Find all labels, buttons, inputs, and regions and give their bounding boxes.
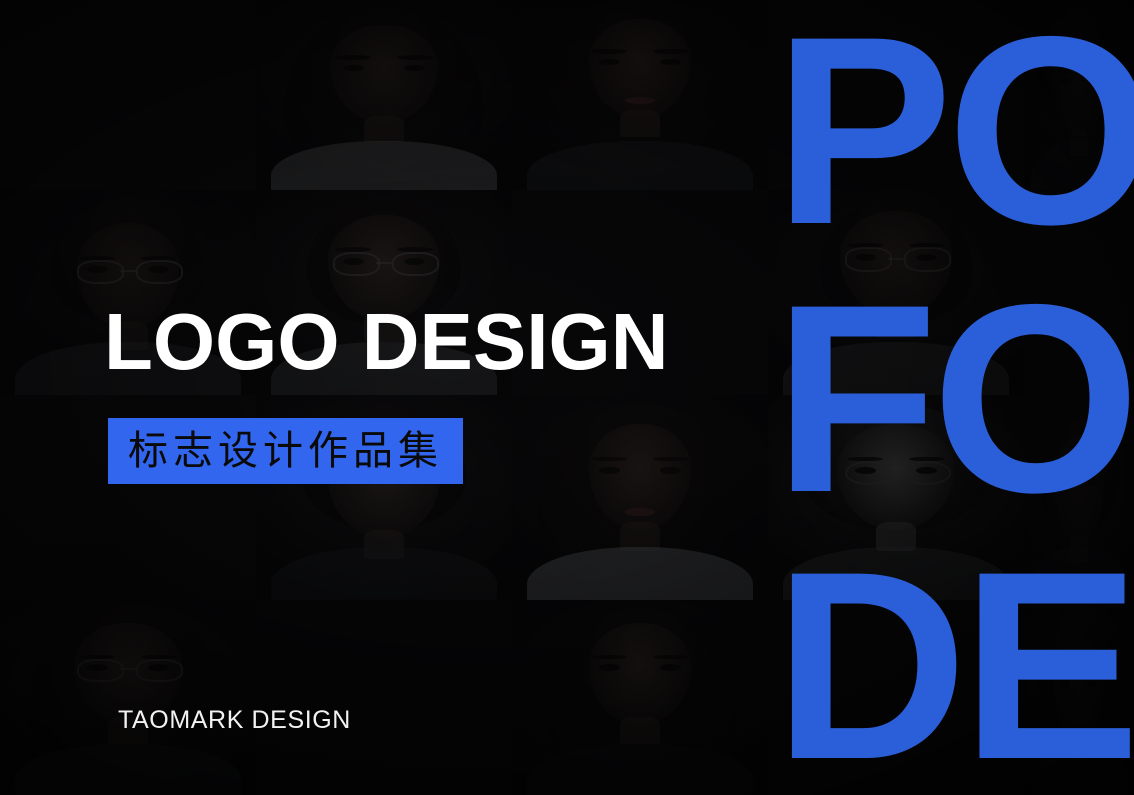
portrait-figure <box>0 600 256 795</box>
photo-cell-r1c2 <box>256 0 512 190</box>
portfolio-cover-slide: PO FO DE LOGO DESIGN 标志设计作品集 TAOMARK DES… <box>0 0 1134 795</box>
portrait-eye-right <box>1088 479 1097 486</box>
eyeglasses-icon <box>77 260 125 285</box>
photo-cell-r2c4 <box>768 190 1024 395</box>
eyeglasses-icon <box>845 247 893 272</box>
portrait-brow-right <box>1085 670 1100 675</box>
portrait-eye-right <box>1088 680 1097 687</box>
photo-cell-r4c2 <box>256 600 512 795</box>
eyeglasses-bridge <box>376 262 391 264</box>
portrait-brow-left <box>591 49 627 54</box>
photo-cell-r3c5 <box>1024 395 1134 600</box>
portrait-empty <box>256 600 512 795</box>
portrait-neck <box>364 116 405 143</box>
portrait-empty <box>768 600 1024 795</box>
portrait-eye-right <box>660 664 680 671</box>
eyeglasses-bridge <box>888 471 903 473</box>
photo-cell-r3c4 <box>768 395 1024 600</box>
portrait-mouth <box>625 508 656 516</box>
eyeglasses-icon <box>333 252 381 277</box>
photo-cell-r1c3 <box>512 0 768 190</box>
eyeglasses-icon <box>904 461 952 486</box>
page-title: LOGO DESIGN <box>104 302 669 382</box>
subtitle-badge: 标志设计作品集 <box>108 418 463 484</box>
photo-cell-r4c1 <box>0 600 256 795</box>
photo-cell-r4c3 <box>512 600 768 795</box>
portrait-eye-right <box>1088 78 1097 84</box>
portrait-brow-right <box>397 55 433 60</box>
portrait-figure <box>512 0 768 190</box>
eyeglasses-icon <box>392 252 440 277</box>
subtitle-text: 标志设计作品集 <box>128 431 443 471</box>
portrait-brow-left <box>1058 670 1073 675</box>
eyeglasses-bridge <box>120 668 135 670</box>
portrait-figure <box>1024 395 1134 600</box>
eyeglasses-icon <box>136 260 184 285</box>
portrait-brow-left <box>335 55 371 60</box>
eyeglasses-bridge <box>120 270 135 272</box>
portrait-eye-left <box>1061 680 1070 687</box>
portrait-empty <box>768 0 1024 190</box>
portrait-eye-right <box>404 65 424 71</box>
portrait-eye-left <box>343 65 363 71</box>
portrait-figure <box>1024 600 1134 795</box>
portrait-empty <box>1024 190 1134 395</box>
eyeglasses-icon <box>845 461 893 486</box>
portrait-eye-left <box>599 467 619 474</box>
portrait-eye-left <box>599 664 619 671</box>
portrait-figure <box>256 0 512 190</box>
photo-cell-r2c5 <box>1024 190 1134 395</box>
eyeglasses-icon <box>904 247 952 272</box>
photo-cell-r3c3 <box>512 395 768 600</box>
eyeglasses-icon <box>136 659 184 683</box>
eyeglasses-bridge <box>888 258 903 260</box>
photo-cell-r1c4 <box>768 0 1024 190</box>
portrait-brow-left <box>1058 469 1073 474</box>
photo-cell-r1c5 <box>1024 0 1134 190</box>
brand-name: TAOMARK DESIGN <box>118 706 351 735</box>
portrait-figure <box>768 190 1024 395</box>
portrait-neck <box>876 309 917 338</box>
portrait-brow-right <box>1085 68 1100 73</box>
portrait-brow-right <box>1085 469 1100 474</box>
portrait-figure <box>1024 0 1134 190</box>
portrait-figure <box>512 395 768 600</box>
portrait-brow-right <box>653 49 689 54</box>
portrait-neck <box>620 717 661 744</box>
photo-mosaic-background <box>0 0 1134 795</box>
portrait-figure <box>768 395 1024 600</box>
photo-cell-r4c5 <box>1024 600 1134 795</box>
photo-cell-r1c1 <box>0 0 256 190</box>
portrait-neck <box>620 110 661 137</box>
portrait-figure <box>512 600 768 795</box>
portrait-eye-right <box>660 467 680 474</box>
photo-cell-r4c4 <box>768 600 1024 795</box>
eyeglasses-icon <box>77 659 125 683</box>
portrait-empty <box>0 0 256 190</box>
